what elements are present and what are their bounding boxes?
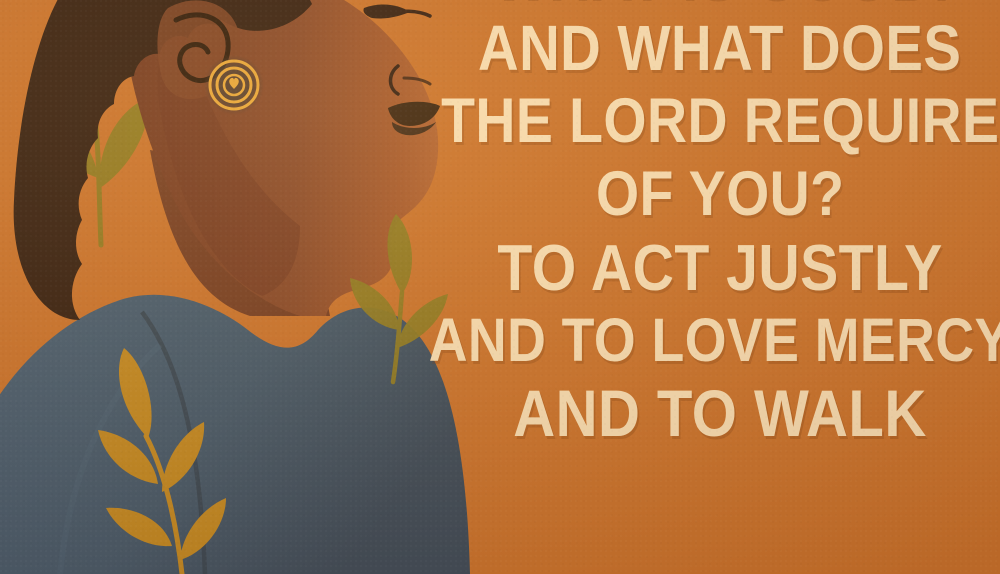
verse-line-2: AND WHAT DOES (478, 12, 961, 85)
verse-line-6: AND TO LOVE MERCY (429, 304, 1000, 377)
verse-line-3: THE LORD REQUIRE (441, 85, 999, 158)
hoop-earring (204, 55, 264, 115)
verse-line-7: AND TO WALK (513, 377, 927, 450)
verse-line-4: OF YOU? (596, 158, 844, 231)
verse-text-block: HE HAS SHOWN YOU, O MORTAL, WHAT IS GOOD… (440, 0, 1000, 574)
verse-line-5: TO ACT JUSTLY (497, 231, 942, 304)
scripture-poster: HE HAS SHOWN YOU, O MORTAL, WHAT IS GOOD… (0, 0, 1000, 574)
verse-line-1: WHAT IS GOOD. (492, 0, 948, 12)
woman-profile-illustration (0, 0, 470, 574)
